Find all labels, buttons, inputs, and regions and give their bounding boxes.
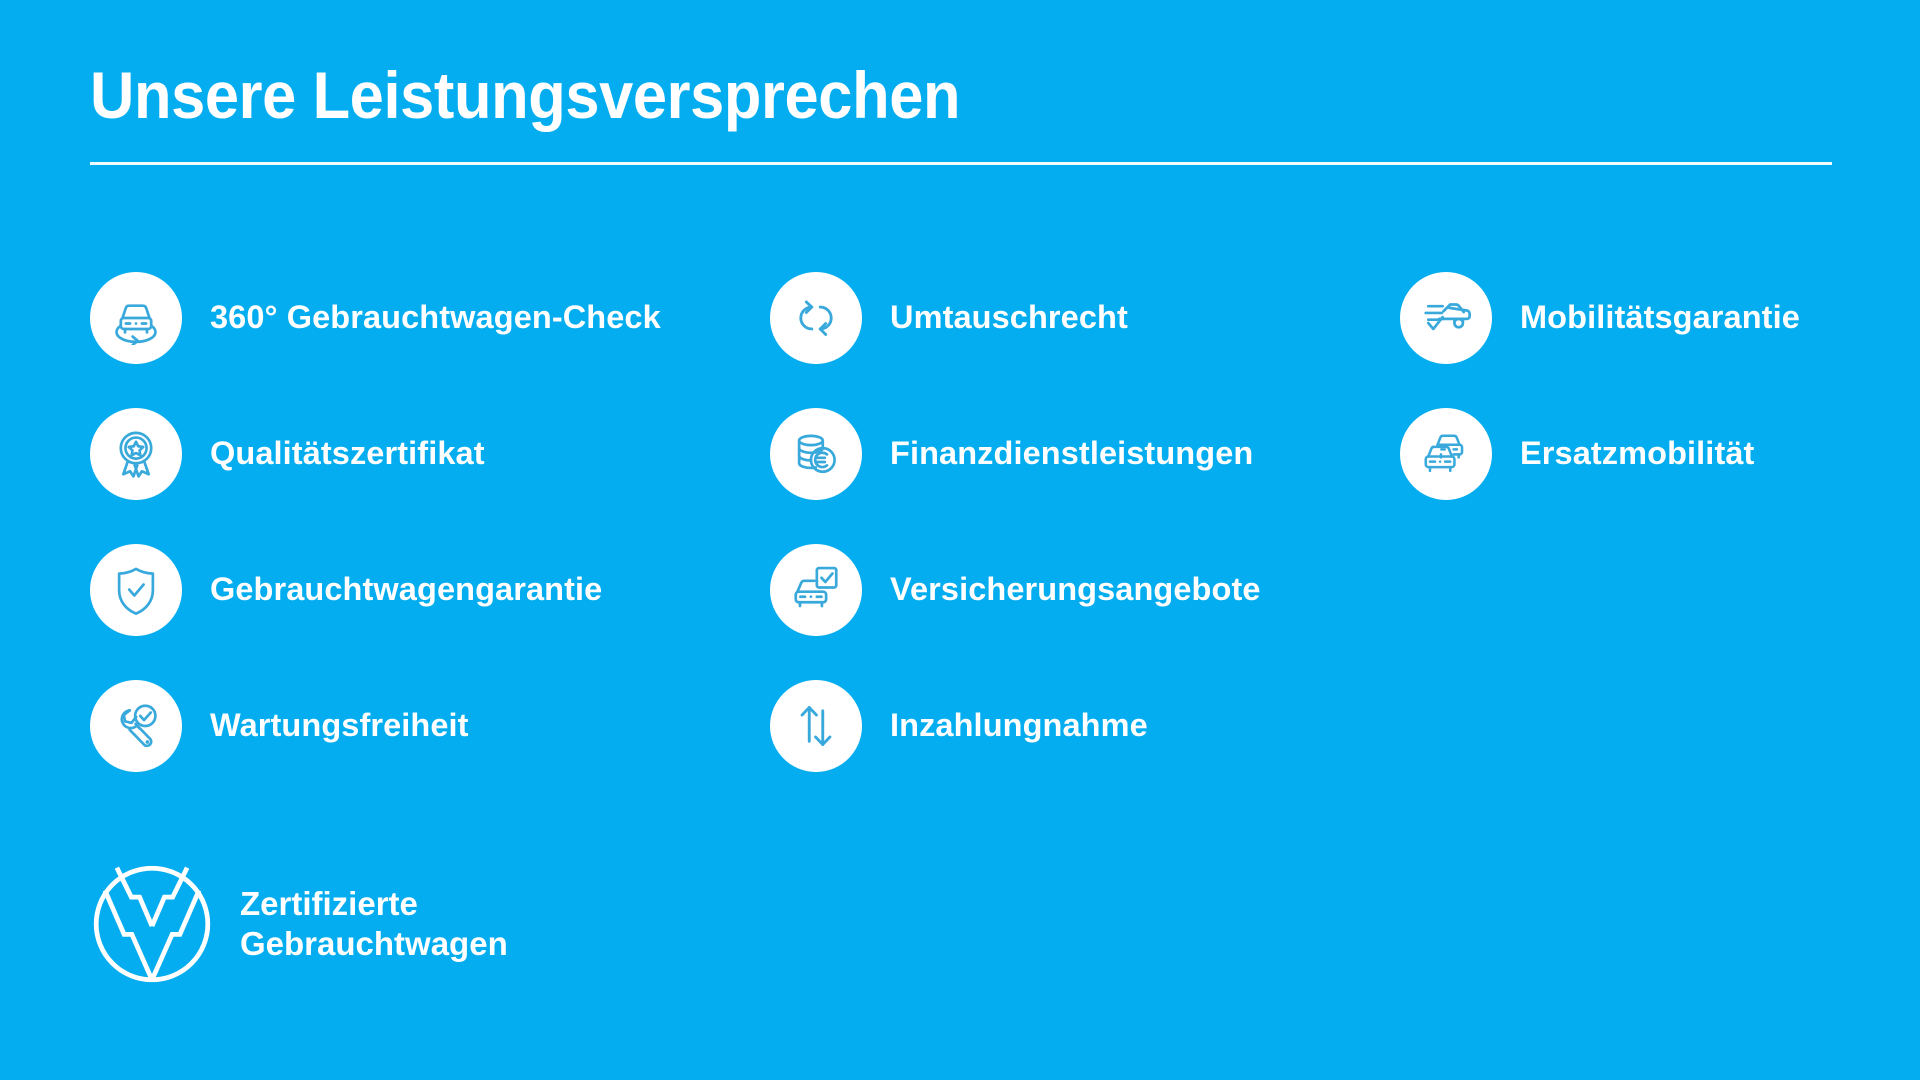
feature-label: Mobilitätsgarantie xyxy=(1520,300,1800,336)
car-360-rotation-icon xyxy=(109,291,163,345)
feature-label: Versicherungsangebote xyxy=(890,572,1261,608)
feature-label: Ersatzmobilität xyxy=(1520,436,1754,472)
brand-lockup: Zertifizierte Gebrauchtwagen xyxy=(90,862,508,986)
icon-badge xyxy=(90,680,182,772)
feature-item-finanzdienstleistungen[interactable]: Finanzdienstleistungen xyxy=(770,408,1400,500)
feature-item-mobilitaetsgarantie[interactable]: Mobilitätsgarantie xyxy=(1400,272,1850,364)
feature-label: Finanzdienstleistungen xyxy=(890,436,1253,472)
feature-label: Qualitätszertifikat xyxy=(210,436,485,472)
feature-label: 360° Gebrauchtwagen-Check xyxy=(210,300,661,336)
award-rosette-icon xyxy=(109,427,163,481)
feature-item-wartungsfreiheit[interactable]: Wartungsfreiheit xyxy=(90,680,770,772)
slide-root: Unsere Leistungsversprechen xyxy=(0,0,1920,1080)
icon-badge xyxy=(770,408,862,500)
icon-badge xyxy=(770,544,862,636)
icon-badge xyxy=(90,544,182,636)
car-checkbox-icon xyxy=(789,563,843,617)
brand-line-1: Zertifizierte xyxy=(240,884,508,924)
feature-column-2: Umtauschrecht xyxy=(770,272,1400,772)
page-title: Unsere Leistungsversprechen xyxy=(90,62,1710,128)
brand-text: Zertifizierte Gebrauchtwagen xyxy=(240,884,508,965)
feature-item-versicherungsangebote[interactable]: Versicherungsangebote xyxy=(770,544,1400,636)
brand-line-2: Gebrauchtwagen xyxy=(240,924,508,964)
feature-item-umtauschrecht[interactable]: Umtauschrecht xyxy=(770,272,1400,364)
title-divider xyxy=(90,162,1832,165)
header: Unsere Leistungsversprechen xyxy=(90,62,1832,165)
icon-badge xyxy=(90,408,182,500)
feature-item-ersatzmobilitaet[interactable]: Ersatzmobilität xyxy=(1400,408,1850,500)
icon-badge xyxy=(90,272,182,364)
icon-badge xyxy=(1400,272,1492,364)
feature-item-inzahlungnahme[interactable]: Inzahlungnahme xyxy=(770,680,1400,772)
feature-item-gebrauchtwagengarantie[interactable]: Gebrauchtwagengarantie xyxy=(90,544,770,636)
icon-badge xyxy=(770,272,862,364)
feature-column-3: Mobilitätsgarantie xyxy=(1400,272,1850,500)
wrench-check-icon xyxy=(109,699,163,753)
exchange-arrows-icon xyxy=(789,291,843,345)
feature-label: Umtauschrecht xyxy=(890,300,1128,336)
feature-column-1: 360° Gebrauchtwagen-Check Qualitätsz xyxy=(90,272,770,772)
two-cars-icon xyxy=(1419,427,1473,481)
feature-item-qualitaetszertifikat[interactable]: Qualitätszertifikat xyxy=(90,408,770,500)
coins-euro-icon xyxy=(789,427,843,481)
feature-item-360-gebrauchtwagen-check[interactable]: 360° Gebrauchtwagen-Check xyxy=(90,272,770,364)
feature-columns: 360° Gebrauchtwagen-Check Qualitätsz xyxy=(90,272,1850,772)
car-speed-check-icon xyxy=(1419,291,1473,345)
arrows-up-down-icon xyxy=(789,699,843,753)
volkswagen-logo xyxy=(90,862,214,986)
icon-badge xyxy=(770,680,862,772)
shield-check-icon xyxy=(109,563,163,617)
feature-label: Gebrauchtwagengarantie xyxy=(210,572,602,608)
icon-badge xyxy=(1400,408,1492,500)
feature-label: Inzahlungnahme xyxy=(890,708,1148,744)
feature-label: Wartungsfreiheit xyxy=(210,708,469,744)
